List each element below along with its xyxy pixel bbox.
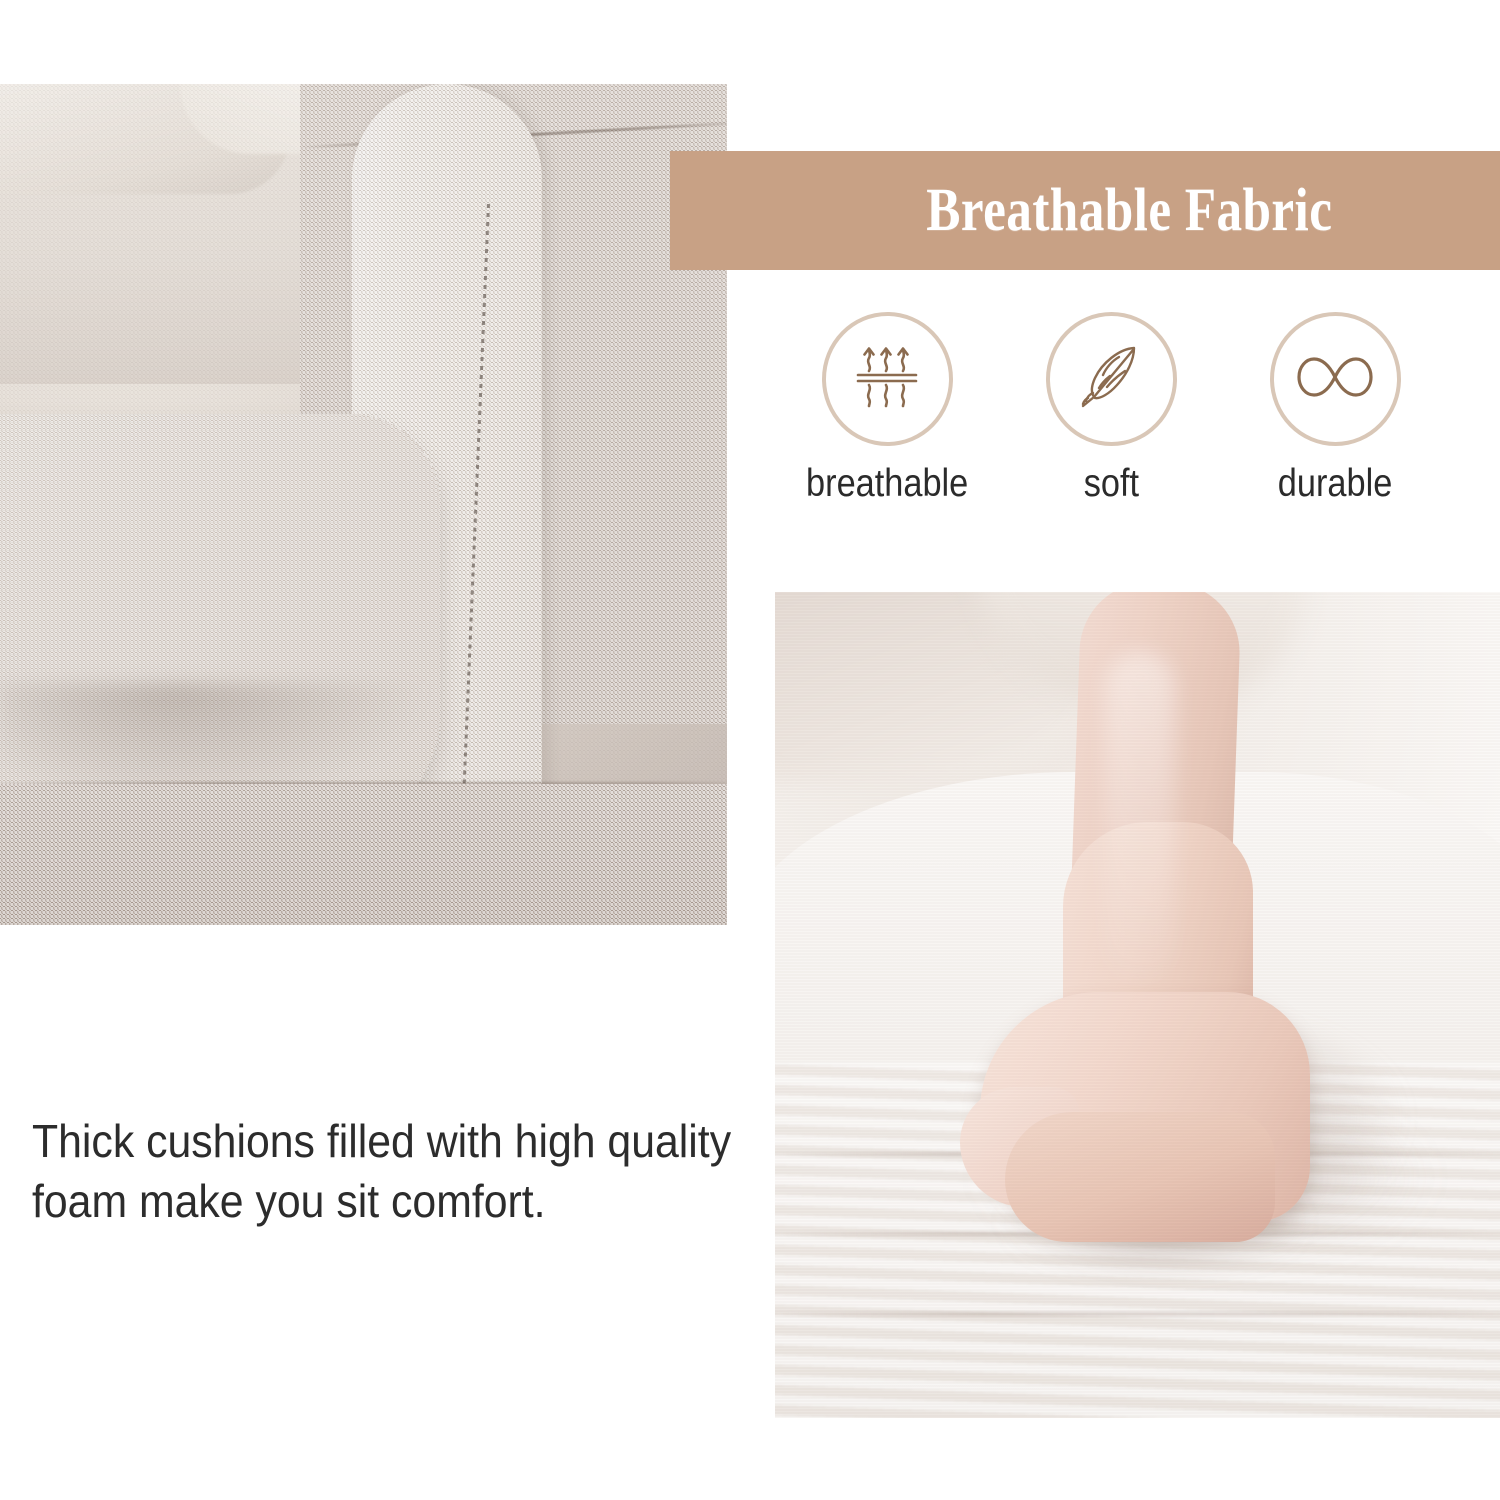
leg-highlight xyxy=(1105,652,1175,982)
feature-label-durable: durable xyxy=(1278,464,1392,503)
feature-durable: durable xyxy=(1223,312,1447,503)
infographic-canvas: Breathable Fabric xyxy=(0,0,1500,1500)
caption-line-2: foam make you sit comfort. xyxy=(32,1172,720,1232)
feather-icon xyxy=(1071,337,1151,422)
feature-breathable: breathable xyxy=(775,312,999,503)
feature-label-breathable: breathable xyxy=(806,464,968,503)
cushion-ridge-line xyxy=(775,1312,1500,1316)
feature-circle-durable xyxy=(1270,312,1401,446)
breathable-airflow-icon xyxy=(848,338,926,421)
caption-line-1: Thick cushions filled with high quality xyxy=(32,1112,720,1172)
feature-icon-row: breathable xyxy=(775,312,1500,517)
feature-circle-breathable xyxy=(822,312,953,446)
sofa-base-band xyxy=(0,784,727,925)
infinity-icon xyxy=(1293,349,1377,410)
feature-label-soft: soft xyxy=(1083,464,1138,503)
breathable-fabric-banner: Breathable Fabric xyxy=(670,151,1500,270)
feature-circle-soft xyxy=(1046,312,1177,446)
banner-title: Breathable Fabric xyxy=(838,176,1332,246)
foot-on-cushion-photo xyxy=(775,592,1500,1418)
feature-soft: soft xyxy=(999,312,1223,503)
sofa-armrest-photo xyxy=(0,84,727,925)
cushion-caption: Thick cushions filled with high quality … xyxy=(32,1112,720,1232)
foot-heel xyxy=(1005,1112,1275,1242)
